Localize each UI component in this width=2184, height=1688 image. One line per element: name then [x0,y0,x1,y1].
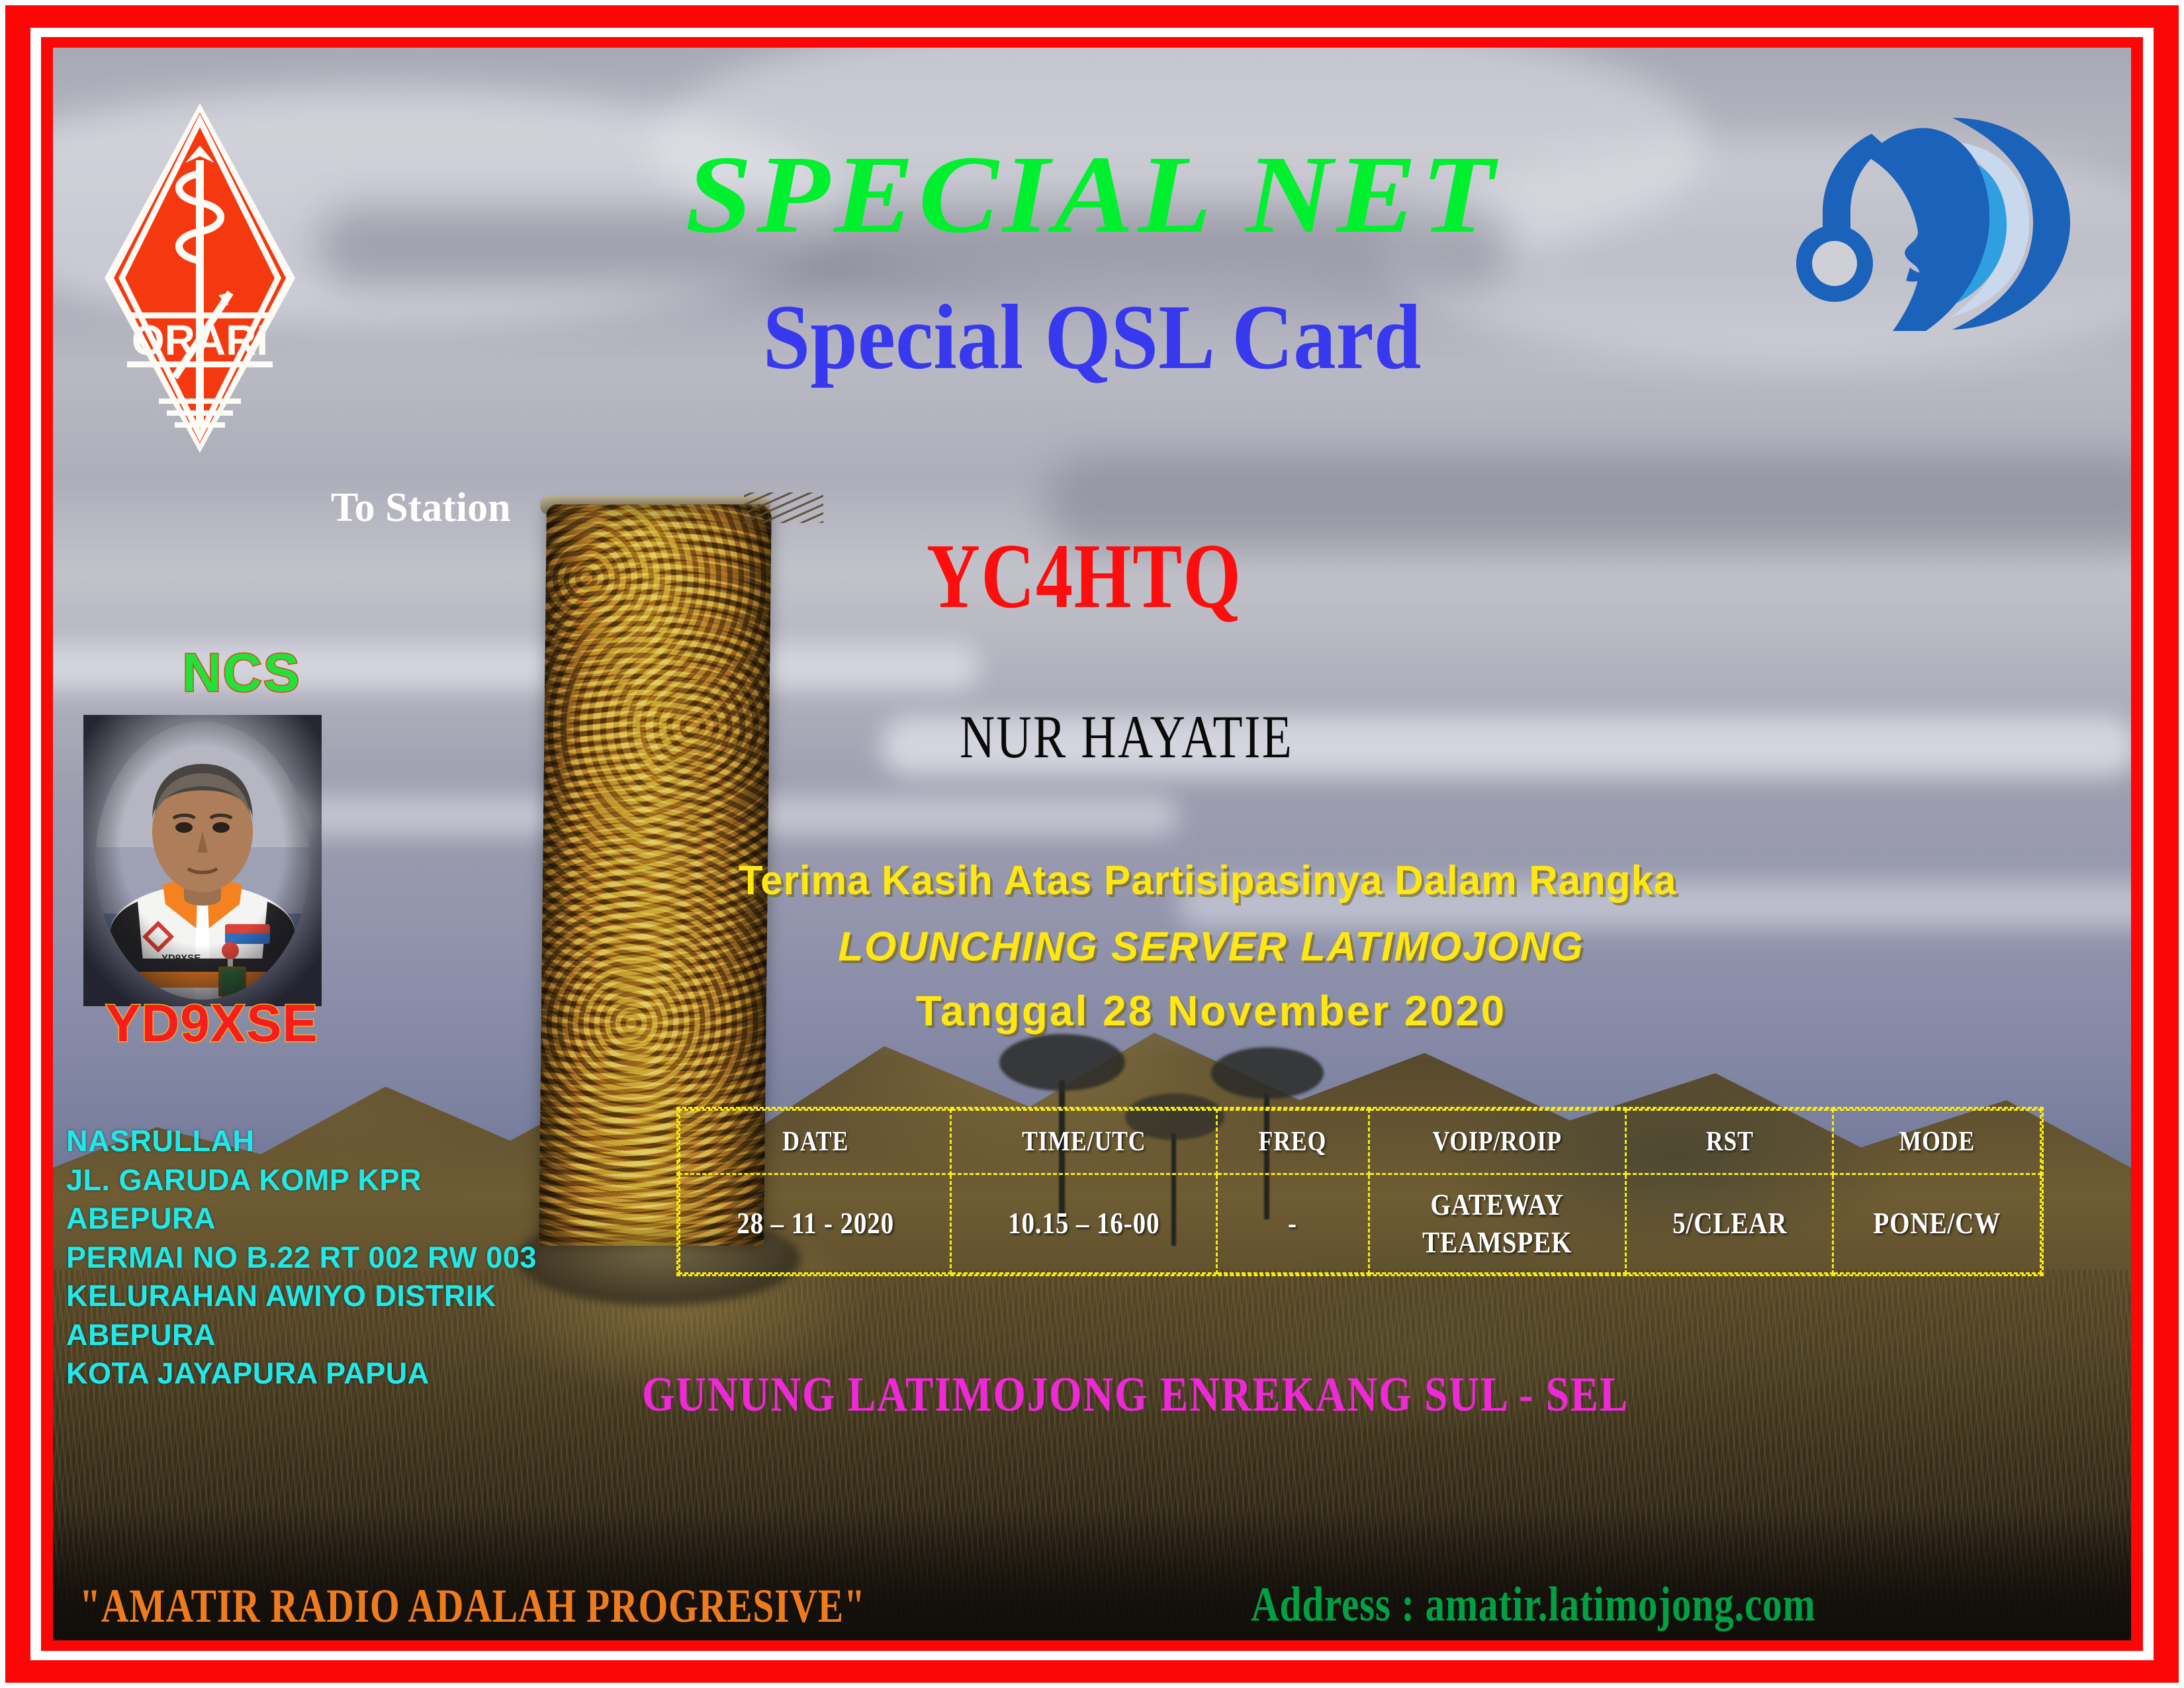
cell-freq: - [1228,1174,1357,1274]
cell-voip-line1: GATEWAY [1389,1186,1605,1223]
event-date-line: Tanggal 28 November 2020 [0,986,2184,1035]
page-subtitle-qsl-card: Special QSL Card [87,291,2097,384]
column-header-mode: MODE [1848,1110,2025,1174]
address-line: KELURAHAN AWIYO DISTRIK [66,1277,537,1316]
cell-time: 10.15 – 16-00 [971,1174,1197,1274]
location-line: GUNUNG LATIMOJONG ENREKANG SUL - SEL [642,1367,1629,1423]
table-row: 28 – 11 - 2020 10.15 – 16-00 - GATEWAY T… [680,1174,2041,1274]
event-thanks-line: Terima Kasih Atas Partisipasinya Dalam R… [33,857,2152,904]
content-layer: ORARI SPECIAL NET Special QSL Card To St [0,0,2184,1688]
event-title-line: LOUNCHING SERVER LATIMOJONG [0,923,2184,970]
address-line: KOTA JAYAPURA PAPUA [66,1354,537,1393]
cell-rst: 5/CLEAR [1641,1174,1817,1274]
ncs-label: NCS [126,642,357,704]
event-date-text: Tanggal 28 November 2020 [916,987,1507,1035]
address-line: ABEPURA [66,1199,537,1239]
cell-voip: GATEWAY TEAMSPEK [1388,1174,1606,1274]
address-line: NASRULLAH [66,1122,537,1161]
event-thanks-text: Terima Kasih Atas Partisipasinya Dalam R… [739,858,1676,904]
column-header-freq: FREQ [1228,1110,1357,1174]
cell-date: 28 – 11 - 2020 [700,1174,931,1274]
address-line: PERMAI NO B.22 RT 002 RW 003 [66,1239,537,1278]
sender-address-block: NASRULLAH JL. GARUDA KOMP KPR ABEPURA PE… [66,1122,537,1393]
address-line: JL. GARUDA KOMP KPR [66,1161,537,1200]
footer-motto: "AMATIR RADIO ADALAH PROGRESIVE" [79,1579,866,1634]
column-header-date: DATE [700,1110,931,1174]
column-header-voip: VOIP/ROIP [1388,1110,1606,1174]
column-header-rst: RST [1641,1110,1817,1174]
recipient-callsign: YC4HTQ [927,523,1242,630]
event-title-text: LOUNCHING SERVER LATIMOJONG [838,924,1584,970]
address-line: ABEPURA [66,1316,537,1355]
column-header-time: TIME/UTC [971,1110,1197,1174]
cell-voip-line2: TEAMSPEK [1389,1224,1605,1261]
footer-web-address: Address : amatir.latimojong.com [1251,1577,1816,1633]
recipient-operator-name: NUR HAYATIE [960,702,1293,772]
page-title-special-net: SPECIAL NET [0,139,2184,250]
to-station-label: To Station [331,485,511,532]
qso-log-table: DATE TIME/UTC FREQ VOIP/ROIP RST MODE 28… [676,1107,2044,1276]
table-header-row: DATE TIME/UTC FREQ VOIP/ROIP RST MODE [680,1110,2041,1174]
cell-mode: PONE/CW [1848,1174,2025,1274]
qsl-card: ORARI SPECIAL NET Special QSL Card To St [0,0,2184,1688]
